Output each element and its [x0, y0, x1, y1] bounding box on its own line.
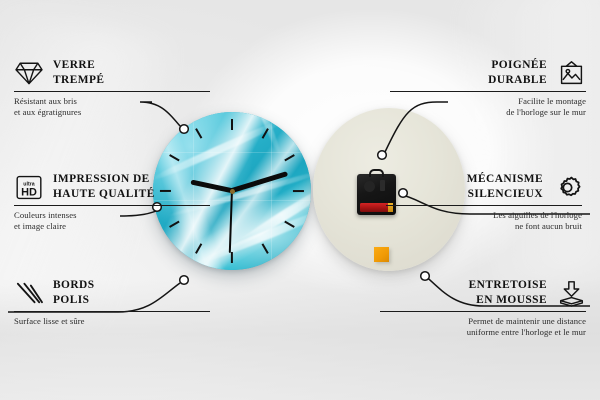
feature-desc-line2: ne font aucun bruit — [386, 221, 582, 232]
feature-title-line1: BORDS — [53, 278, 95, 293]
feature-desc-line1: Les aiguilles de l'horloge — [386, 210, 582, 221]
ultra-hd-icon: ultra HD — [14, 172, 44, 202]
background-streak-right — [445, 0, 600, 295]
hanger-handle-icon — [369, 169, 384, 177]
feature-title-line2: EN MOUSSE — [469, 293, 547, 308]
feature-desc-line1: Résistant aux bris — [14, 96, 210, 107]
polished-edges-icon — [14, 278, 44, 308]
feature-impression-haute-qualite: ultra HD IMPRESSION DE HAUTE QUALITÉ Cou… — [14, 172, 210, 232]
feature-title-line1: MÉCANISME — [467, 172, 543, 187]
feature-description: Couleurs intenses et image claire — [14, 210, 210, 233]
foam-spacer-pad — [374, 247, 389, 262]
feature-desc-line2: et image claire — [14, 221, 210, 232]
feature-desc-line1: Surface lisse et sûre — [14, 316, 210, 327]
feature-header: VERRE TREMPÉ — [14, 58, 210, 88]
feature-description: Les aiguilles de l'horloge ne font aucun… — [386, 210, 582, 233]
svg-text:HD: HD — [21, 186, 37, 198]
clock-center-cap — [230, 189, 235, 194]
feature-title: MÉCANISME SILENCIEUX — [467, 172, 543, 201]
feature-title: VERRE TREMPÉ — [53, 58, 104, 87]
feature-title-line2: DURABLE — [488, 73, 547, 88]
feature-header: MÉCANISME SILENCIEUX — [386, 172, 582, 202]
feature-description: Surface lisse et sûre — [14, 316, 210, 327]
foam-spacer-icon — [556, 278, 586, 308]
feature-verre-trempe: VERRE TREMPÉ Résistant aux bris et aux é… — [14, 58, 210, 118]
feature-divider — [380, 311, 586, 312]
feature-entretoise-en-mousse: ENTRETOISE EN MOUSSE Permet de maintenir… — [380, 278, 586, 338]
feature-title-line1: POIGNÉE — [488, 58, 547, 73]
feature-desc-line1: Permet de maintenir une distance — [380, 316, 586, 327]
mechanism-shaft — [380, 180, 385, 191]
feature-poignee-durable: POIGNÉE DURABLE Facilite le montage de l… — [390, 58, 586, 118]
feature-title-line1: IMPRESSION DE — [53, 172, 155, 187]
feature-title-line2: HAUTE QUALITÉ — [53, 187, 155, 202]
feature-desc-line2: de l'horloge sur le mur — [390, 107, 586, 118]
feature-desc-line1: Couleurs intenses — [14, 210, 210, 221]
feature-title-line2: SILENCIEUX — [467, 187, 543, 202]
feature-header: ultra HD IMPRESSION DE HAUTE QUALITÉ — [14, 172, 210, 202]
feature-divider — [14, 311, 210, 312]
feature-header: BORDS POLIS — [14, 278, 210, 308]
feature-desc-line2: et aux égratignures — [14, 107, 210, 118]
gear-icon — [552, 172, 582, 202]
feature-mecanisme-silencieux: MÉCANISME SILENCIEUX Les aiguilles de l'… — [386, 172, 582, 232]
feature-title-line2: TREMPÉ — [53, 73, 104, 88]
feature-divider — [14, 205, 210, 206]
feature-description: Permet de maintenir une distance uniform… — [380, 316, 586, 339]
infographic-canvas: VERRE TREMPÉ Résistant aux bris et aux é… — [0, 0, 600, 400]
feature-title-line1: VERRE — [53, 58, 104, 73]
feature-divider — [386, 205, 582, 206]
feature-header: POIGNÉE DURABLE — [390, 58, 586, 88]
feature-title-line2: POLIS — [53, 293, 95, 308]
feature-divider — [14, 91, 210, 92]
feature-desc-line1: Facilite le montage — [390, 96, 586, 107]
feature-divider — [390, 91, 586, 92]
mechanism-dial — [364, 181, 375, 192]
feature-title-line1: ENTRETOISE — [469, 278, 547, 293]
feature-title: BORDS POLIS — [53, 278, 95, 307]
feature-title: ENTRETOISE EN MOUSSE — [469, 278, 547, 307]
picture-hanger-icon — [556, 58, 586, 88]
feature-description: Résistant aux bris et aux égratignures — [14, 96, 210, 119]
feature-desc-line2: uniforme entre l'horloge et le mur — [380, 327, 586, 338]
feature-header: ENTRETOISE EN MOUSSE — [380, 278, 586, 308]
feature-title: IMPRESSION DE HAUTE QUALITÉ — [53, 172, 155, 201]
feature-bords-polis: BORDS POLIS Surface lisse et sûre — [14, 278, 210, 327]
feature-title: POIGNÉE DURABLE — [488, 58, 547, 87]
diamond-icon — [14, 58, 44, 88]
feature-description: Facilite le montage de l'horloge sur le … — [390, 96, 586, 119]
